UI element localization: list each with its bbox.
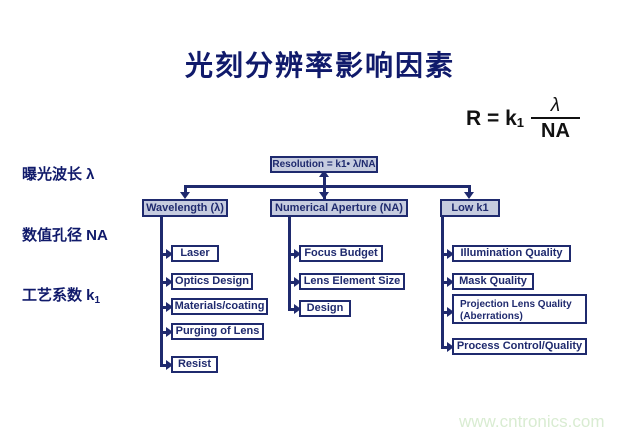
watermark: www.cntronics.com bbox=[459, 412, 604, 432]
resolution-formula: R = k1 λ NA bbox=[466, 96, 580, 141]
node-numerical-aperture[interactable]: Numerical Aperture (NA) bbox=[270, 199, 408, 217]
node-materials-coating[interactable]: Materials/coating bbox=[171, 298, 268, 315]
node-resolution-root[interactable]: Resolution = k1• λ/NA bbox=[270, 156, 378, 173]
arrow-root-down bbox=[319, 192, 329, 199]
node-resist[interactable]: Resist bbox=[171, 356, 218, 373]
side-label-process-factor: 工艺系数 k1 bbox=[22, 284, 100, 305]
trunk-numerical-aperture bbox=[288, 216, 291, 311]
formula-denominator: NA bbox=[531, 119, 580, 141]
node-purging-of-lens[interactable]: Purging of Lens bbox=[171, 323, 264, 340]
side-label-numerical-aperture: 数值孔径 NA bbox=[22, 224, 108, 245]
formula-numerator: λ bbox=[541, 96, 570, 117]
formula-lhs: R = k bbox=[466, 107, 517, 131]
node-projection-lens-quality-line2: (Aberrations) bbox=[460, 311, 523, 322]
connector-horizontal-bus bbox=[184, 185, 471, 188]
node-optics-design[interactable]: Optics Design bbox=[171, 273, 253, 290]
side-label-wavelength: 曝光波长 λ bbox=[22, 163, 95, 184]
node-mask-quality[interactable]: Mask Quality bbox=[452, 273, 534, 290]
arrow-to-lowk1 bbox=[464, 192, 474, 199]
formula-lhs-subscript: 1 bbox=[517, 115, 524, 130]
formula-fraction: λ NA bbox=[531, 96, 580, 141]
node-illumination-quality[interactable]: Illumination Quality bbox=[452, 245, 571, 262]
node-laser[interactable]: Laser bbox=[171, 245, 219, 262]
node-focus-budget[interactable]: Focus Budget bbox=[299, 245, 383, 262]
arrow-to-wavelength bbox=[180, 192, 190, 199]
node-design[interactable]: Design bbox=[299, 300, 351, 317]
node-projection-lens-quality[interactable]: Projection Lens Quality (Aberrations) bbox=[452, 294, 587, 324]
node-low-k1[interactable]: Low k1 bbox=[440, 199, 500, 217]
slide-canvas: 光刻分辨率影响因素 R = k1 λ NA 曝光波长 λ 数值孔径 NA 工艺系… bbox=[0, 0, 640, 443]
node-projection-lens-quality-line1: Projection Lens Quality bbox=[460, 299, 572, 310]
node-process-control-quality[interactable]: Process Control/Quality bbox=[452, 338, 587, 355]
node-lens-element-size[interactable]: Lens Element Size bbox=[299, 273, 405, 290]
trunk-wavelength bbox=[160, 216, 163, 366]
node-wavelength[interactable]: Wavelength (λ) bbox=[142, 199, 228, 217]
page-title: 光刻分辨率影响因素 bbox=[0, 44, 640, 84]
